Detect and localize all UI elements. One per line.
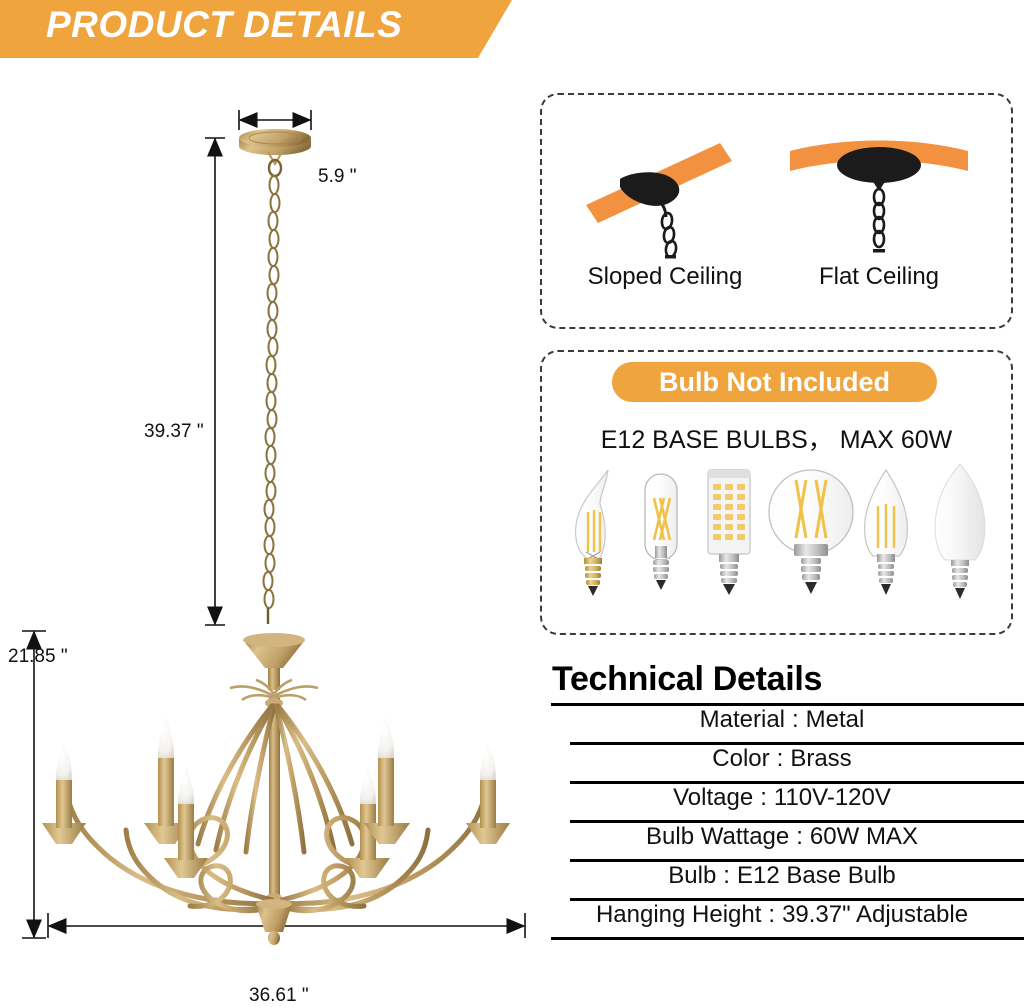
- ceiling-canopy: [239, 129, 311, 176]
- candle-arm: [466, 744, 510, 844]
- row-value: Metal: [806, 706, 865, 734]
- table-row: Bulb Wattage : 60W MAX: [540, 823, 1024, 859]
- ceiling-option-sloped: Sloped Ceiling: [560, 109, 770, 309]
- row-separator: :: [770, 745, 791, 773]
- table-row: Voltage : 110V-120V: [540, 784, 1024, 820]
- table-rule: [551, 937, 1024, 940]
- dimension-body-height: 21.85 ": [8, 646, 68, 668]
- table-row: Hanging Height : 39.37" Adjustable: [540, 901, 1024, 937]
- dimension-overall-width: 36.61 ": [249, 985, 309, 1007]
- flat-ceiling-mount-icon: [774, 109, 984, 259]
- row-value: E12 Base Bulb: [737, 862, 896, 890]
- page-title: PRODUCT DETAILS: [46, 4, 402, 46]
- row-value: 60W MAX: [810, 823, 918, 851]
- bulb-not-included-badge: Bulb Not Included: [612, 362, 937, 402]
- table-row: Bulb : E12 Base Bulb: [540, 862, 1024, 898]
- frosted-candle-bulb: [935, 464, 985, 599]
- row-separator: :: [753, 784, 774, 812]
- technical-details-section: Technical Details Material : Metal Color…: [540, 660, 1024, 940]
- row-separator: :: [785, 706, 806, 734]
- row-label: Bulb Wattage: [646, 823, 789, 851]
- sloped-ceiling-mount-icon: [560, 109, 770, 259]
- row-label: Color: [712, 745, 769, 773]
- row-separator: :: [789, 823, 810, 851]
- ceiling-option-label: Sloped Ceiling: [560, 263, 770, 291]
- row-separator: :: [761, 901, 782, 929]
- row-value: 39.37" Adjustable: [782, 901, 968, 929]
- bulb-type-row: [556, 460, 1001, 620]
- product-dimension-figure: 5.9 " 39.37 " 21.85 " 36.61 ": [0, 58, 540, 971]
- candle-arm: [42, 744, 86, 844]
- row-separator: :: [716, 862, 737, 890]
- row-label: Bulb: [668, 862, 716, 890]
- dimension-canopy-width: 5.9 ": [318, 166, 356, 188]
- suspension-chain: [264, 176, 280, 608]
- dimension-hanging-drop: 39.37 ": [144, 421, 204, 443]
- table-row: Material : Metal: [540, 706, 1024, 742]
- globe-filament-bulb: [769, 470, 853, 594]
- row-label: Material: [700, 706, 785, 734]
- bulb-info-panel: Bulb Not Included E12 BASE BULBS， MAX 60…: [540, 350, 1013, 635]
- corn-led-bulb: [708, 470, 750, 595]
- ceiling-option-label: Flat Ceiling: [774, 263, 984, 291]
- candle-filament-bulb: [865, 470, 908, 595]
- ceiling-type-panel: Sloped Ceiling Flat Ceiling: [540, 93, 1013, 329]
- table-row: Color : Brass: [540, 745, 1024, 781]
- chandelier-body: [42, 633, 510, 945]
- technical-details-title: Technical Details: [552, 660, 1024, 699]
- bulb-spec-text: E12 BASE BULBS， MAX 60W: [542, 420, 1011, 456]
- row-value: 110V-120V: [774, 784, 891, 812]
- row-label: Voltage: [673, 784, 753, 812]
- row-value: Brass: [790, 745, 851, 773]
- ceiling-option-flat: Flat Ceiling: [774, 109, 984, 309]
- row-label: Hanging Height: [596, 901, 761, 929]
- flame-tip-filament-bulb: [576, 470, 608, 596]
- tubular-filament-bulb: [645, 474, 677, 590]
